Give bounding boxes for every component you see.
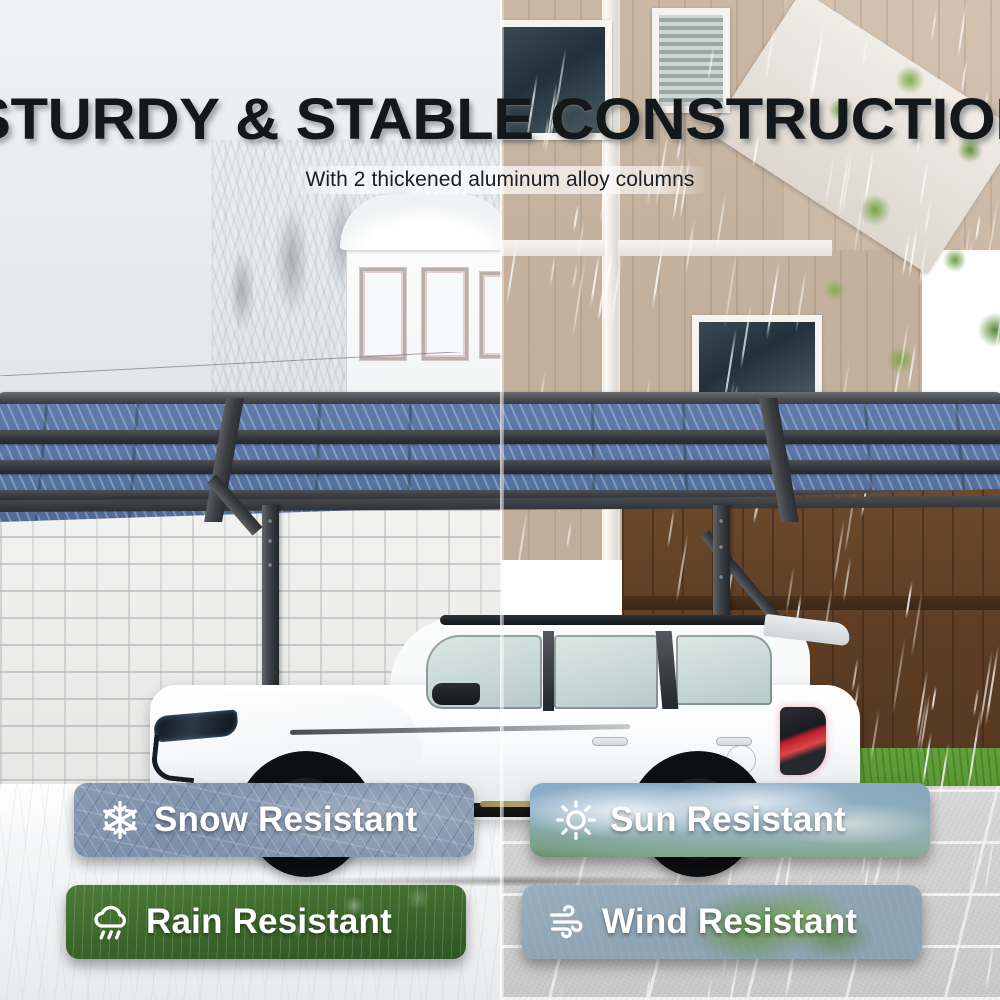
badge-label: Sun Resistant <box>610 800 846 840</box>
car-door-handle <box>592 737 628 746</box>
car-taillight <box>780 707 826 775</box>
page-title: STURDY & STABLE CONSTRUCTION <box>0 86 1000 153</box>
car-roof-rail <box>440 615 790 625</box>
feature-badge-snow[interactable]: Snow Resistant <box>74 783 474 857</box>
power-line <box>0 352 502 376</box>
car-door-handle <box>716 737 752 746</box>
badge-label: Snow Resistant <box>154 800 417 840</box>
feature-badge-wind[interactable]: Wind Resistant <box>522 885 922 959</box>
feature-badge-rain[interactable]: Rain Resistant <box>66 885 466 959</box>
house-window <box>422 268 468 360</box>
badge-label: Wind Resistant <box>602 902 857 942</box>
house-window <box>480 272 502 358</box>
page-subtitle: With 2 thickened aluminum alloy columns <box>291 166 708 194</box>
snowflake-icon <box>90 799 150 841</box>
feature-badge-sun[interactable]: Sun Resistant <box>530 783 930 857</box>
car-rear-window <box>554 635 658 709</box>
badge-label: Rain Resistant <box>146 902 392 942</box>
house-window <box>360 268 406 360</box>
car-quarter-window <box>676 635 772 705</box>
product-feature-image: STURDY & STABLE CONSTRUCTION With 2 thic… <box>0 0 1000 1000</box>
wind-icon <box>538 900 598 944</box>
car-b-pillar <box>543 631 554 711</box>
subtitle-wrap: With 2 thickened aluminum alloy columns <box>0 166 1000 194</box>
car-side-mirror <box>432 683 480 705</box>
sun-icon <box>546 799 606 841</box>
rain-cloud-icon <box>82 900 142 944</box>
